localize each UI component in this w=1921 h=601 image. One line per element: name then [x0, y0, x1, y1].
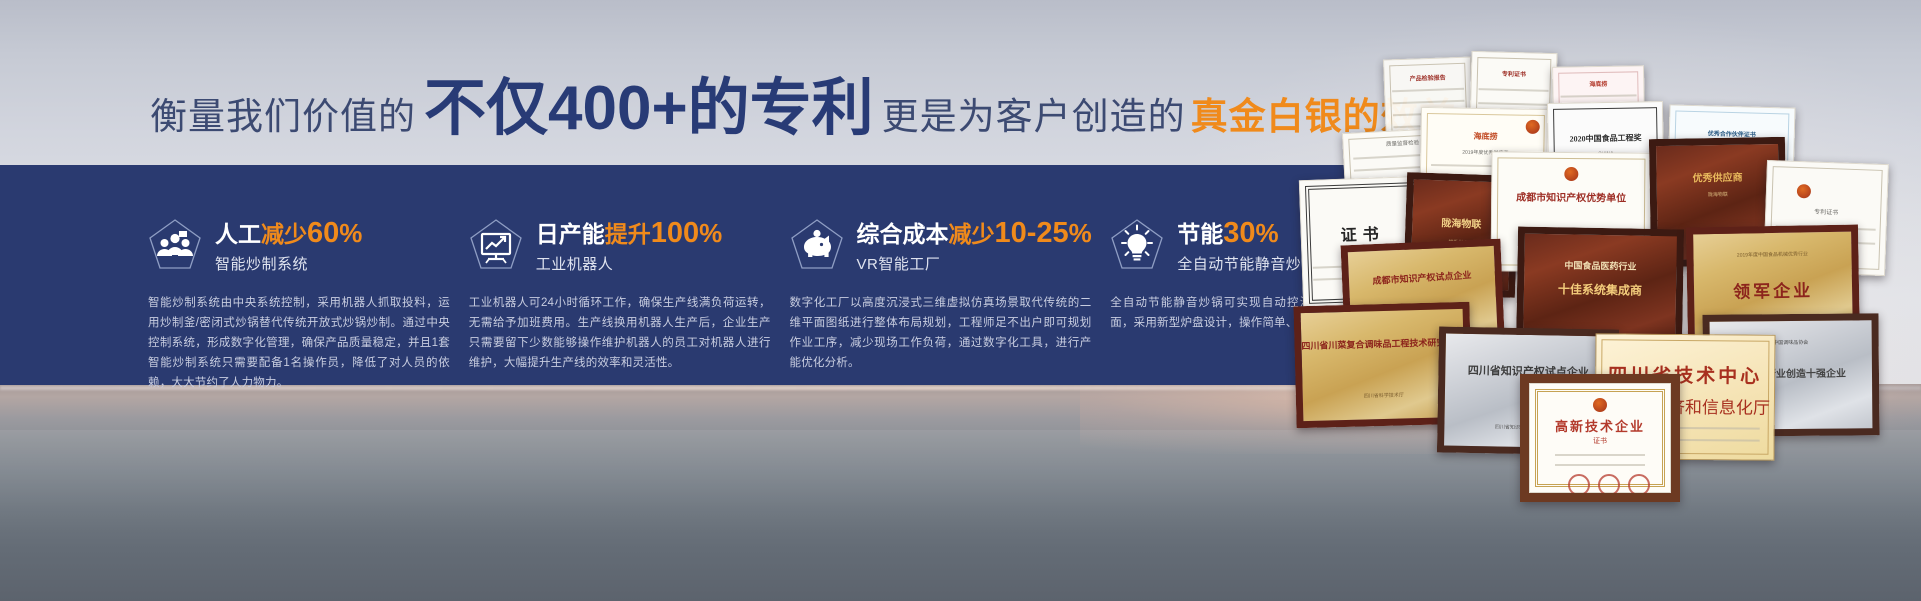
feature-body: 数字化工厂以高度沉浸式三维虚拟仿真场景取代传统的二维平面图纸进行整体布局规划，工…	[790, 293, 1092, 373]
certificate-title: 十佳系统集成商	[1524, 280, 1676, 300]
chart-board-icon	[469, 218, 523, 274]
feature-title-accent: 提升	[605, 221, 651, 247]
certificate-title: 成都市知识产权优势单位	[1492, 188, 1650, 204]
feature-title-plain: 日产能	[536, 221, 605, 247]
people-group-icon	[148, 218, 202, 274]
certificate-subtitle: 2019年度中国食品机械优秀行业	[1693, 250, 1851, 260]
certificate-title: 领军企业	[1694, 276, 1852, 304]
feature-title-plain: 人工	[215, 221, 261, 247]
features-panel: 人工减少60% 智能炒制系统 智能炒制系统由中央系统控制，采用机器人抓取投料，运…	[0, 165, 1417, 385]
feature-title-unit: %	[699, 218, 722, 248]
feature-item: 人工减少60% 智能炒制系统 智能炒制系统由中央系统控制，采用机器人抓取投料，运…	[148, 165, 455, 385]
certificate-stack: 产品检验报告 质量监督检验 专利证书 国家知识产权局	[1295, 52, 1921, 522]
certificate-title: 高新技术企业	[1530, 416, 1670, 435]
feature-body: 工业机器人可24小时循环工作，确保生产线满负荷运转，无需给予加班费用。生产线换用…	[469, 293, 771, 373]
certificate-title: 成都市知识产权试点企业	[1349, 267, 1496, 289]
feature-title-number: 30	[1223, 217, 1255, 249]
certificate-subtitle: 陇海物联	[1657, 190, 1779, 199]
piggy-bank-icon	[790, 218, 844, 274]
promo-banner: 衡量我们价值的 不仅400+的专利 更是为客户创造的 真金白银的效益	[0, 0, 1921, 601]
headline-middle: 更是为客户创造的	[882, 86, 1186, 140]
certificate-item: 高新技术企业 证书	[1520, 374, 1680, 502]
feature-subtitle: 工业机器人	[536, 253, 723, 274]
feature-title-plain: 综合成本	[857, 221, 949, 247]
feature-title: 综合成本减少10-25%	[857, 218, 1092, 248]
headline-highlight: 不仅400+的专利	[424, 78, 874, 140]
feature-title-accent: 减少	[949, 221, 995, 247]
feature-title-plain: 节能	[1177, 221, 1223, 247]
feature-body: 智能炒制系统由中央系统控制，采用机器人抓取投料，运用炒制釜/密闭式炒锅替代传统开…	[148, 293, 450, 393]
feature-title-number: 60	[307, 217, 339, 249]
headline-lead: 衡量我们价值的	[150, 86, 416, 140]
feature-subtitle: VR智能工厂	[857, 253, 1092, 274]
certificate-title: 优秀供应商	[1656, 168, 1778, 185]
feature-title: 人工减少60%	[215, 218, 362, 248]
feature-title-number: 10-25	[995, 217, 1069, 249]
feature-title-unit: %	[1256, 218, 1279, 248]
feature-subtitle: 智能炒制系统	[215, 253, 362, 274]
feature-title-accent: 减少	[261, 221, 307, 247]
feature-title-unit: %	[339, 218, 362, 248]
feature-item: 综合成本减少10-25% VR智能工厂 数字化工厂以高度沉浸式三维虚拟仿真场景取…	[790, 165, 1097, 385]
feature-title-unit: %	[1069, 218, 1092, 248]
headline: 衡量我们价值的 不仅400+的专利 更是为客户创造的 真金白银的效益	[150, 78, 1457, 148]
feature-item: 日产能提升100% 工业机器人 工业机器人可24小时循环工作，确保生产线满负荷运…	[469, 165, 776, 385]
feature-title-number: 100	[651, 217, 699, 249]
certificate-title: 2020中国食品工程奖	[1548, 132, 1662, 145]
lightbulb-icon	[1110, 218, 1164, 274]
certificate-title: 中国食品医药行业	[1524, 258, 1676, 274]
feature-title: 日产能提升100%	[536, 218, 723, 248]
certificate-title: 海底捞	[1553, 78, 1643, 89]
certificate-subtitle: 证书	[1530, 436, 1670, 446]
